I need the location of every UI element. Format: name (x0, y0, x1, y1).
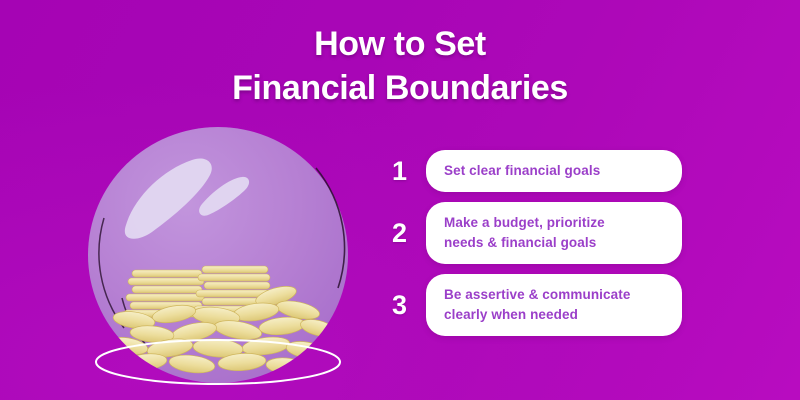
step-card-1[interactable]: Set clear financial goals (426, 150, 682, 192)
step-text-3-line-2: clearly when needed (444, 307, 578, 322)
step-number-3: 3 (392, 292, 426, 319)
steps-list: 1 Set clear financial goals 2 Make a bud… (392, 150, 682, 336)
list-item[interactable]: 2 Make a budget, prioritize needs & fina… (392, 202, 682, 264)
step-number-2: 2 (392, 220, 426, 247)
title-line-2: Financial Boundaries (0, 66, 800, 110)
step-text-1-line-1: Set clear financial goals (444, 163, 600, 178)
list-item[interactable]: 3 Be assertive & communicate clearly whe… (392, 274, 682, 336)
step-text-3: Be assertive & communicate clearly when … (444, 285, 630, 325)
step-number-1: 1 (392, 158, 426, 185)
step-text-1: Set clear financial goals (444, 161, 600, 181)
step-card-2[interactable]: Make a budget, prioritize needs & financ… (426, 202, 682, 264)
infographic-poster: How to Set Financial Boundaries (0, 0, 800, 400)
step-text-2-line-1: Make a budget, prioritize (444, 215, 605, 230)
step-card-3[interactable]: Be assertive & communicate clearly when … (426, 274, 682, 336)
step-text-3-line-1: Be assertive & communicate (444, 287, 630, 302)
money-bubble-illustration (70, 120, 370, 390)
list-item[interactable]: 1 Set clear financial goals (392, 150, 682, 192)
title-line-1: How to Set (0, 22, 800, 66)
step-text-2: Make a budget, prioritize needs & financ… (444, 213, 605, 253)
page-title: How to Set Financial Boundaries (0, 22, 800, 110)
step-text-2-line-2: needs & financial goals (444, 235, 596, 250)
